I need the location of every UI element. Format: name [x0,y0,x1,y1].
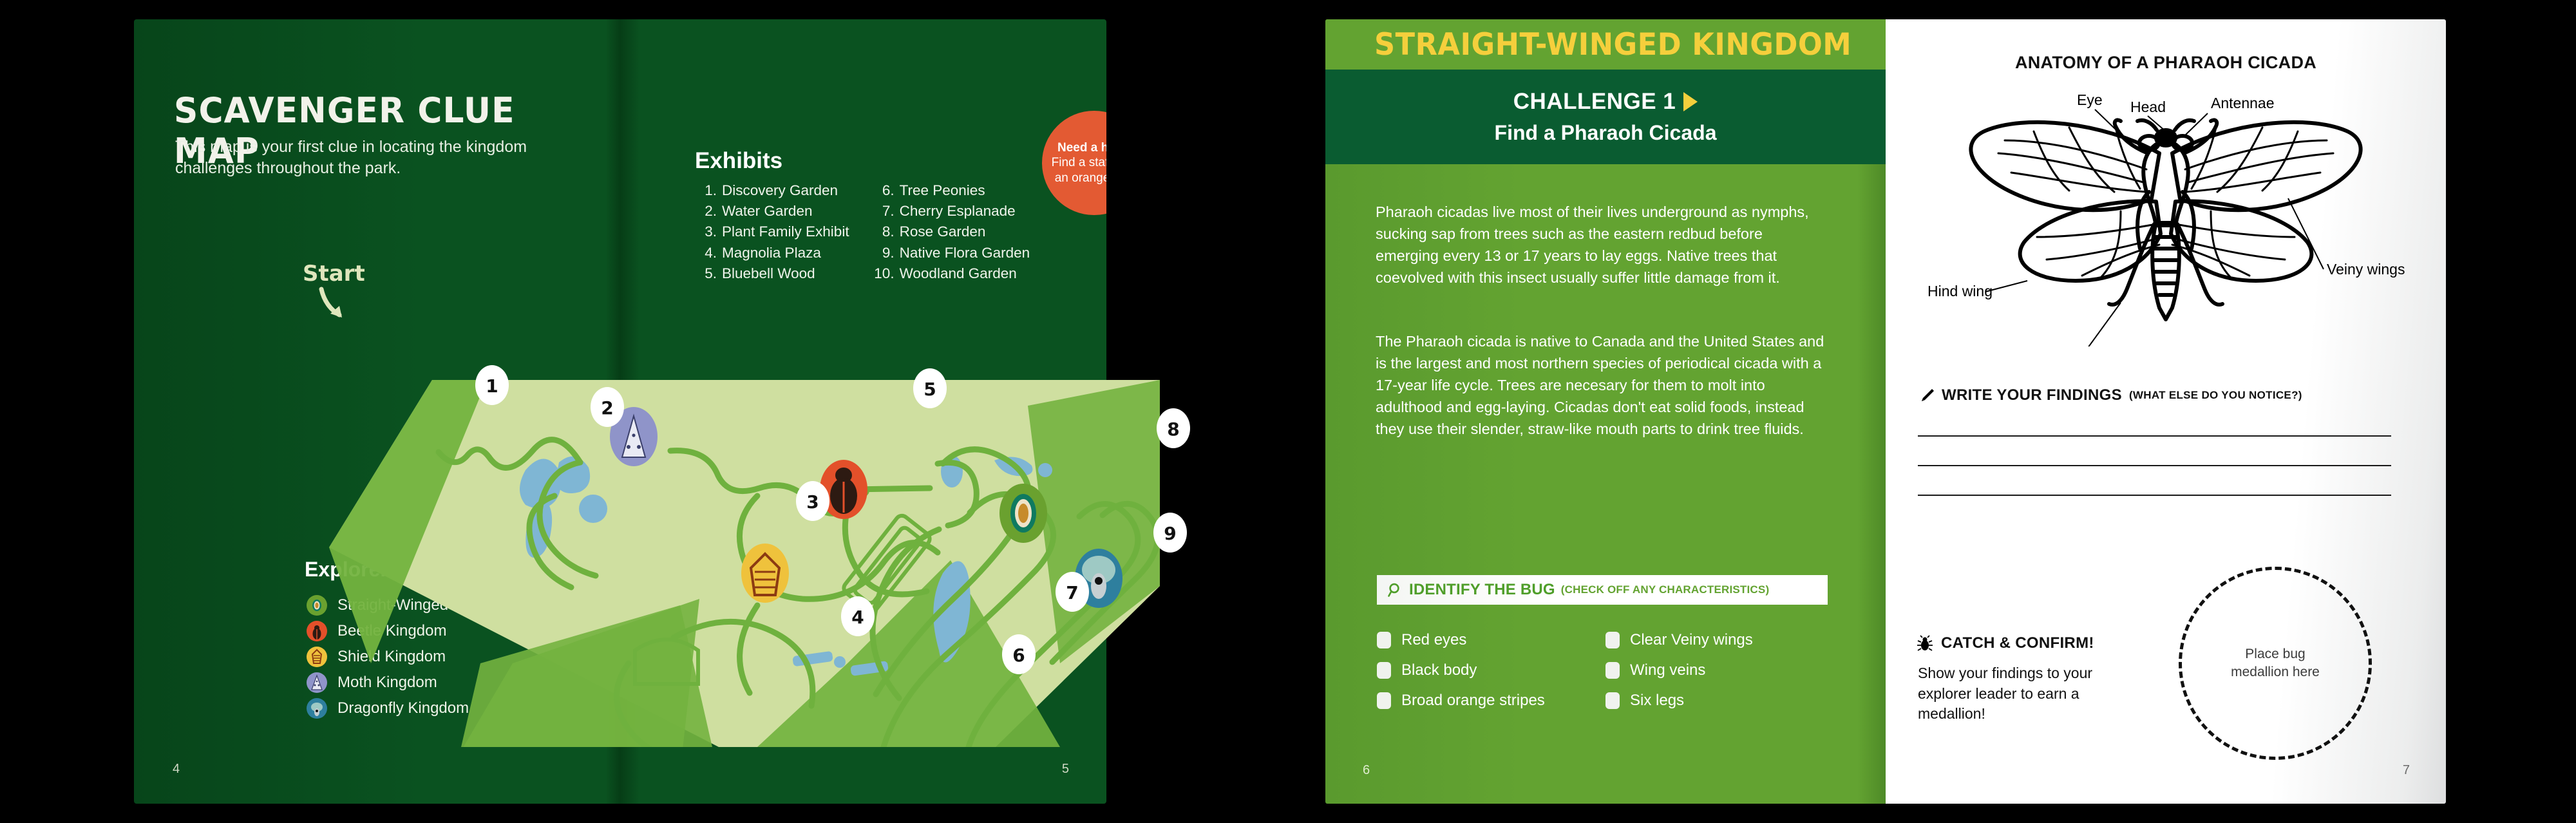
exhibit-number: 1. [695,180,717,201]
checkbox[interactable] [1605,632,1620,648]
checklist-item[interactable]: Clear Veiny wings [1605,625,1834,655]
exhibit-item: 1.Discovery Garden [695,180,849,201]
kingdom-title: STRAIGHT-WINGED KINGDOM [1374,27,1851,62]
svg-text:1: 1 [486,375,498,397]
checkbox[interactable] [1377,662,1391,679]
exhibit-item: 8.Rose Garden [873,222,1030,242]
svg-text:4: 4 [851,607,864,628]
findings-line[interactable] [1918,465,2391,466]
exhibit-item: 5.Bluebell Wood [695,263,849,284]
exhibit-number: 8. [873,222,895,242]
write-findings-heading: WRITE YOUR FINDINGS (WHAT ELSE DO YOU NO… [1918,386,2302,404]
svg-text:2: 2 [601,397,613,419]
challenge-heading: CHALLENGE 1 [1513,89,1698,115]
page-number: 4 [173,762,180,777]
checkbox[interactable] [1605,692,1620,709]
exhibit-number: 5. [695,263,717,284]
challenge-subtitle: Find a Pharaoh Cicada [1495,121,1717,145]
page-number: 5 [1062,762,1069,777]
svg-text:9: 9 [1164,523,1176,544]
checklist-label: Wing veins [1630,661,1705,679]
medallion-line-2: medallion here [2231,663,2320,681]
bug-icon [1917,635,1933,652]
catch-confirm-heading: CATCH & CONFIRM! [1917,634,2094,652]
kingdom-banner: STRAIGHT-WINGED KINGDOM [1325,19,1886,70]
exhibit-label: Cherry Esplanade [900,201,1016,222]
exhibit-item: 3.Plant Family Exhibit [695,222,849,242]
svg-text:6: 6 [1012,645,1025,666]
exhibit-number: 3. [695,222,717,242]
play-flag-icon [1683,92,1698,111]
catch-confirm-body: Show your findings to your explorer lead… [1918,663,2105,724]
findings-line[interactable] [1918,495,2391,496]
checklist-label: Red eyes [1401,631,1466,649]
exhibit-label: Plant Family Exhibit [722,222,849,242]
findings-line[interactable] [1918,435,2391,437]
checkbox[interactable] [1377,692,1391,709]
checklist-item[interactable]: Six legs [1605,685,1834,715]
checklist-label: Clear Veiny wings [1630,631,1753,649]
svg-text:5: 5 [923,379,936,400]
anatomy-label-veiny-wings: Veiny wings [2327,261,2405,278]
identify-the-bug-bar: IDENTIFY THE BUG (CHECK OFF ANY CHARACTE… [1377,575,1828,605]
page-6: STRAIGHT-WINGED KINGDOM CHALLENGE 1 Find… [1325,19,1886,804]
scavenger-map-spread: SCAVENGER CLUE MAP This map is your firs… [134,19,1106,804]
medallion-text: Place bug medallion here [2231,645,2320,681]
checklist-label: Six legs [1630,692,1684,710]
exhibit-number: 4. [695,243,717,263]
write-findings-title: WRITE YOUR FINDINGS [1942,386,2122,404]
identify-hint: (CHECK OFF ANY CHARACTERISTICS) [1561,583,1770,596]
exhibits-column-b: 6.Tree Peonies 7.Cherry Esplanade 8.Rose… [873,180,1030,284]
write-findings-subtitle: (WHAT ELSE DO YOU NOTICE?) [2129,389,2302,402]
challenge-spread: STRAIGHT-WINGED KINGDOM CHALLENGE 1 Find… [1325,19,2446,804]
checklist-item[interactable]: Red eyes [1377,625,1605,655]
exhibit-label: Magnolia Plaza [722,243,821,263]
checkbox[interactable] [1605,662,1620,679]
exhibit-number: 9. [873,243,895,263]
catch-confirm-title: CATCH & CONFIRM! [1941,634,2094,652]
exhibits-column-a: 1.Discovery Garden 2.Water Garden 3.Plan… [695,180,849,284]
svg-text:7: 7 [1066,582,1078,603]
anatomy-label-hind-wing: Hind wing [1927,283,1993,299]
page-number: 6 [1363,763,1370,778]
svg-text:8: 8 [1167,419,1179,440]
anatomy-label-antennae: Antennae [2211,95,2274,111]
checklist-label: Black body [1401,661,1477,679]
magnifier-icon [1387,582,1403,598]
info-paragraph-1: Pharaoh cicadas live most of their lives… [1376,201,1826,289]
checkbox[interactable] [1377,632,1391,648]
exhibit-item: 10.Woodland Garden [873,263,1030,284]
hint-line-1: Need a hint? [1057,140,1106,155]
exhibit-item: 7.Cherry Esplanade [873,201,1030,222]
exhibits-list: 1.Discovery Garden 2.Water Garden 3.Plan… [695,180,1030,284]
park-map: 1 2 3 4 5 6 7 8 9 10 [268,303,1240,747]
exhibit-label: Native Flora Garden [900,243,1030,263]
page-number: 7 [2403,763,2410,778]
checklist-item[interactable]: Black body [1377,655,1605,685]
anatomy-label-head: Head [2130,99,2166,115]
exhibit-label: Bluebell Wood [722,263,815,284]
exhibit-number: 10. [873,263,895,284]
exhibit-number: 7. [873,201,895,222]
hint-line-3: an orange hat. [1055,171,1106,185]
page-subtitle: This map is your first clue in locating … [175,137,562,180]
exhibit-label: Rose Garden [900,222,986,242]
hint-line-2: Find a staff with [1052,155,1106,170]
cicada-anatomy-diagram: Eye Head Antennae Veiny wings Hind wing … [1908,76,2423,346]
info-paragraph-2: The Pharaoh cicada is native to Canada a… [1376,330,1826,440]
exhibit-number: 6. [873,180,895,201]
medallion-line-1: Place bug [2231,645,2320,663]
pencil-icon [1918,387,1935,404]
exhibits-heading: Exhibits [695,148,782,174]
exhibit-item: 6.Tree Peonies [873,180,1030,201]
anatomy-label-eye: Eye [2077,91,2103,108]
screenshot-stage: SCAVENGER CLUE MAP This map is your firs… [0,0,2576,823]
identify-title: IDENTIFY THE BUG [1409,581,1555,599]
checklist-item[interactable]: Wing veins [1605,655,1834,685]
medallion-placeholder[interactable]: Place bug medallion here [2179,567,2372,760]
exhibit-item: 2.Water Garden [695,201,849,222]
exhibit-label: Discovery Garden [722,180,838,201]
exhibit-label: Water Garden [722,201,812,222]
exhibit-label: Tree Peonies [900,180,985,201]
characteristics-checklist: Red eyes Clear Veiny wings Black body Wi… [1377,625,1834,715]
exhibit-item: 9.Native Flora Garden [873,243,1030,263]
map-medallion-shield [741,544,789,603]
svg-text:3: 3 [806,491,819,513]
checklist-item[interactable]: Broad orange stripes [1377,685,1605,715]
challenge-label: CHALLENGE 1 [1513,89,1676,115]
challenge-banner: CHALLENGE 1 Find a Pharaoh Cicada [1325,70,1886,164]
exhibit-item: 4.Magnolia Plaza [695,243,849,263]
anatomy-title: ANATOMY OF A PHARAOH CICADA [1886,53,2446,73]
checklist-label: Broad orange stripes [1401,692,1545,710]
start-label: Start [303,261,365,287]
map-medallion-straight-winged [999,484,1047,543]
exhibit-label: Woodland Garden [900,263,1017,284]
hint-badge: Need a hint? Find a staff with an orange… [1042,111,1106,215]
exhibit-number: 2. [695,201,717,222]
page-7: ANATOMY OF A PHARAOH CICADA [1886,19,2446,804]
